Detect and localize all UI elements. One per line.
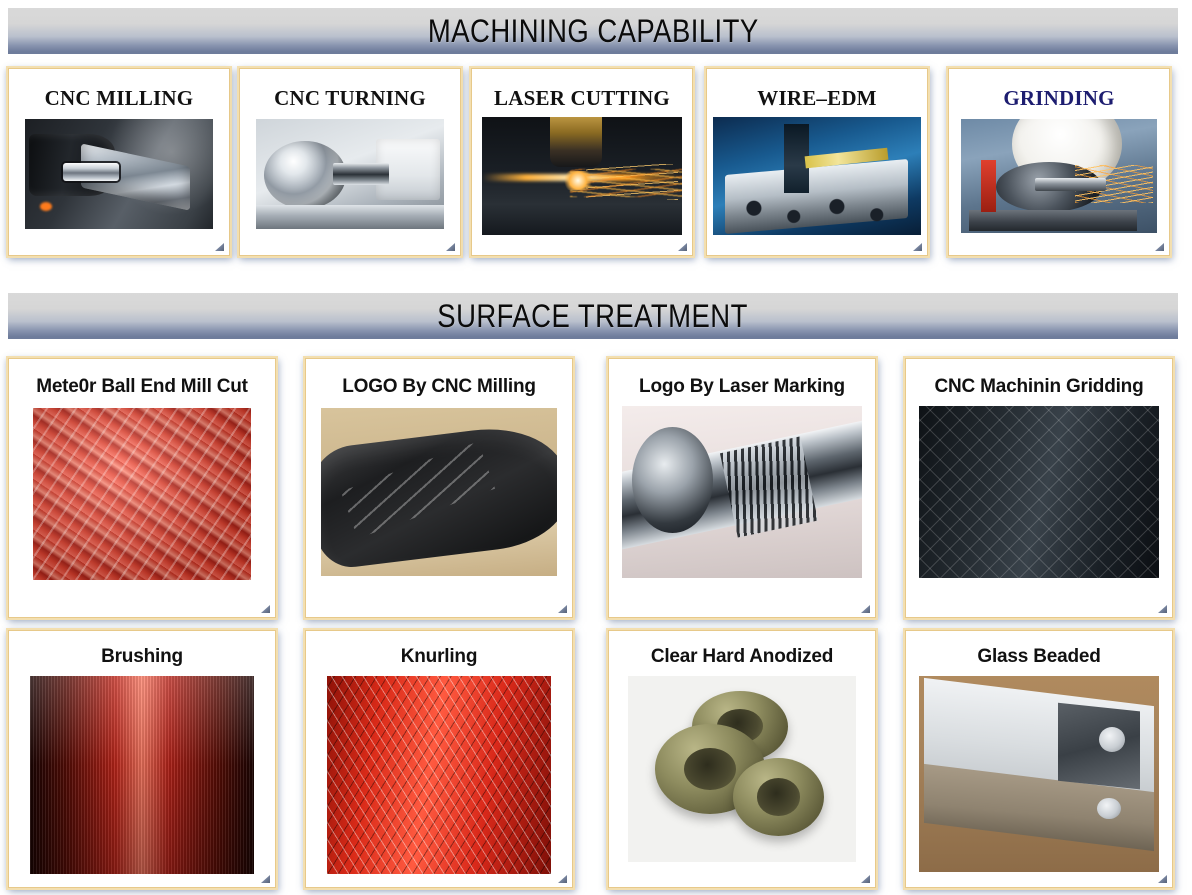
card-logo-by-laser-marking[interactable]: Logo By Laser Marking <box>608 358 876 618</box>
card-title: LOGO By CNC Milling <box>309 376 569 398</box>
page-curl-icon <box>861 875 870 883</box>
card-title: LASER CUTTING <box>475 86 689 111</box>
card-brushing[interactable]: Brushing <box>8 630 276 888</box>
card-photo-brushing <box>30 676 254 874</box>
page-curl-icon <box>1158 875 1167 883</box>
card-inner: Clear Hard Anodized <box>612 634 872 884</box>
card-cnc-turning[interactable]: CNC TURNING <box>239 68 461 256</box>
card-title: Logo By Laser Marking <box>612 376 872 398</box>
card-photo-cnc-machinin-gridding <box>919 406 1159 578</box>
card-clear-hard-anodized[interactable]: Clear Hard Anodized <box>608 630 876 888</box>
card-title: CNC Machinin Gridding <box>909 376 1169 398</box>
card-inner: Mete0r Ball End Mill Cut <box>12 362 272 614</box>
section-banner-machining-capability: MACHINING CAPABILITY <box>8 8 1178 54</box>
card-title: Mete0r Ball End Mill Cut <box>12 376 272 398</box>
card-photo-clear-hard-anodized <box>628 676 856 862</box>
page-curl-icon <box>558 605 567 613</box>
card-grinding[interactable]: GRINDING <box>948 68 1170 256</box>
card-title: Brushing <box>12 646 272 668</box>
page-curl-icon <box>678 243 687 251</box>
card-photo-cnc-milling <box>25 119 213 229</box>
card-photo-cnc-turning <box>256 119 444 229</box>
card-wire-edm[interactable]: WIRE–EDM <box>706 68 928 256</box>
card-laser-cutting[interactable]: LASER CUTTING <box>471 68 693 256</box>
section-title-surface-treatment: SURFACE TREATMENT <box>438 298 749 335</box>
card-inner: CNC TURNING <box>243 72 457 252</box>
card-title: Clear Hard Anodized <box>612 646 872 668</box>
card-cnc-milling[interactable]: CNC MILLING <box>8 68 230 256</box>
card-photo-wire-edm <box>713 117 921 235</box>
page-curl-icon <box>1155 243 1164 251</box>
card-inner: Glass Beaded <box>909 634 1169 884</box>
card-glass-beaded[interactable]: Glass Beaded <box>905 630 1173 888</box>
section-title-machining-capability: MACHINING CAPABILITY <box>428 13 759 50</box>
page-curl-icon <box>215 243 224 251</box>
card-inner: WIRE–EDM <box>710 72 924 252</box>
page-curl-icon <box>261 875 270 883</box>
card-logo-by-cnc-milling[interactable]: LOGO By CNC Milling <box>305 358 573 618</box>
card-title: CNC TURNING <box>243 86 457 111</box>
card-inner: CNC MILLING <box>12 72 226 252</box>
card-title: CNC MILLING <box>12 86 226 111</box>
section-banner-surface-treatment: SURFACE TREATMENT <box>8 293 1178 339</box>
card-inner: Brushing <box>12 634 272 884</box>
page-curl-icon <box>446 243 455 251</box>
machining-capability-page: MACHINING CAPABILITY CNC MILLING CNC TUR… <box>0 0 1192 895</box>
card-cnc-machinin-gridding[interactable]: CNC Machinin Gridding <box>905 358 1173 618</box>
card-inner: Knurling <box>309 634 569 884</box>
card-photo-logo-by-laser-marking <box>622 406 862 578</box>
card-photo-knurling <box>327 676 551 874</box>
card-inner: LOGO By CNC Milling <box>309 362 569 614</box>
card-title: Glass Beaded <box>909 646 1169 668</box>
page-curl-icon <box>913 243 922 251</box>
card-photo-laser-cutting <box>482 117 682 235</box>
page-curl-icon <box>558 875 567 883</box>
card-knurling[interactable]: Knurling <box>305 630 573 888</box>
page-curl-icon <box>261 605 270 613</box>
card-photo-glass-beaded <box>919 676 1159 872</box>
card-photo-logo-by-cnc-milling <box>321 408 557 576</box>
card-title: Knurling <box>309 646 569 668</box>
card-inner: CNC Machinin Gridding <box>909 362 1169 614</box>
page-curl-icon <box>861 605 870 613</box>
page-curl-icon <box>1158 605 1167 613</box>
card-title: GRINDING <box>952 86 1166 111</box>
card-photo-meteor-ball-end-mill-cut <box>33 408 251 580</box>
card-photo-grinding <box>961 119 1157 233</box>
card-title: WIRE–EDM <box>710 86 924 111</box>
card-meteor-ball-end-mill-cut[interactable]: Mete0r Ball End Mill Cut <box>8 358 276 618</box>
card-inner: GRINDING <box>952 72 1166 252</box>
card-inner: Logo By Laser Marking <box>612 362 872 614</box>
card-inner: LASER CUTTING <box>475 72 689 252</box>
